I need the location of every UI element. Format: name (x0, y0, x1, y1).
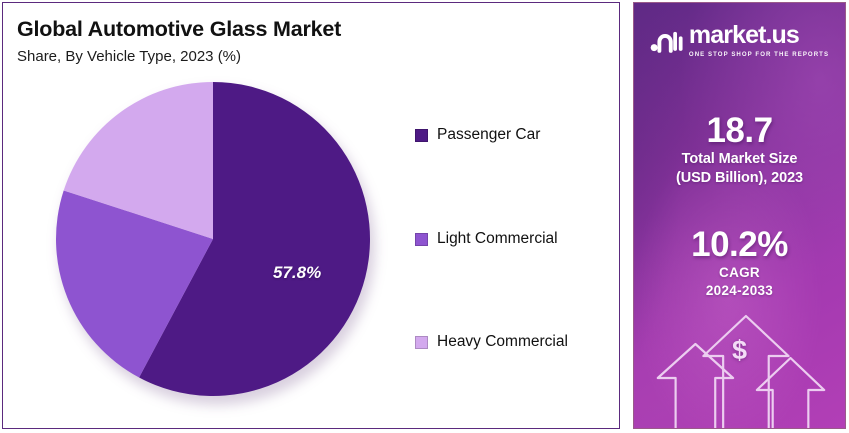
brand-name: market.us (689, 23, 799, 49)
summary-panel: market.us ONE STOP SHOP FOR THE REPORTS … (633, 2, 846, 429)
stat-total-market-size: 18.7 Total Market Size (USD Billion), 20… (634, 111, 845, 187)
chart-subtitle: Share, By Vehicle Type, 2023 (%) (17, 48, 241, 65)
legend-swatch-icon (415, 336, 428, 349)
analytics-bars-icon (650, 27, 683, 54)
legend-item[interactable]: Heavy Commercial (415, 333, 568, 351)
infographic-canvas: Global Automotive Glass Market Share, By… (0, 0, 849, 433)
stat-market-size-value: 18.7 (634, 111, 845, 150)
pie-slice-label-passenger-car: 57.8% (273, 263, 321, 283)
chart-panel: Global Automotive Glass Market Share, By… (2, 2, 620, 429)
legend-item-label: Light Commercial (437, 230, 558, 248)
legend-item[interactable]: Light Commercial (415, 230, 558, 248)
legend-swatch-icon (415, 129, 428, 142)
brand-logo-text: market.us ONE STOP SHOP FOR THE REPORTS (689, 23, 829, 58)
growth-arrows-icon (634, 306, 845, 428)
stat-cagr-caption-line1: CAGR (634, 264, 845, 282)
legend-item-label: Passenger Car (437, 126, 540, 144)
legend-item[interactable]: Passenger Car (415, 126, 540, 144)
brand-logo[interactable]: market.us ONE STOP SHOP FOR THE REPORTS (634, 23, 845, 58)
stat-market-size-caption-line2: (USD Billion), 2023 (634, 169, 845, 188)
legend-swatch-icon (415, 233, 428, 246)
stat-market-size-caption-line1: Total Market Size (634, 150, 845, 169)
stat-cagr-value: 10.2% (634, 225, 845, 264)
page-title: Global Automotive Glass Market (17, 17, 341, 42)
stat-cagr: 10.2% CAGR 2024-2033 (634, 225, 845, 299)
legend-item-label: Heavy Commercial (437, 333, 568, 351)
pie-chart-svg (55, 81, 379, 405)
stat-cagr-caption-line2: 2024-2033 (634, 282, 845, 300)
pie-chart: 57.8% (55, 81, 379, 405)
brand-tagline: ONE STOP SHOP FOR THE REPORTS (689, 51, 829, 58)
